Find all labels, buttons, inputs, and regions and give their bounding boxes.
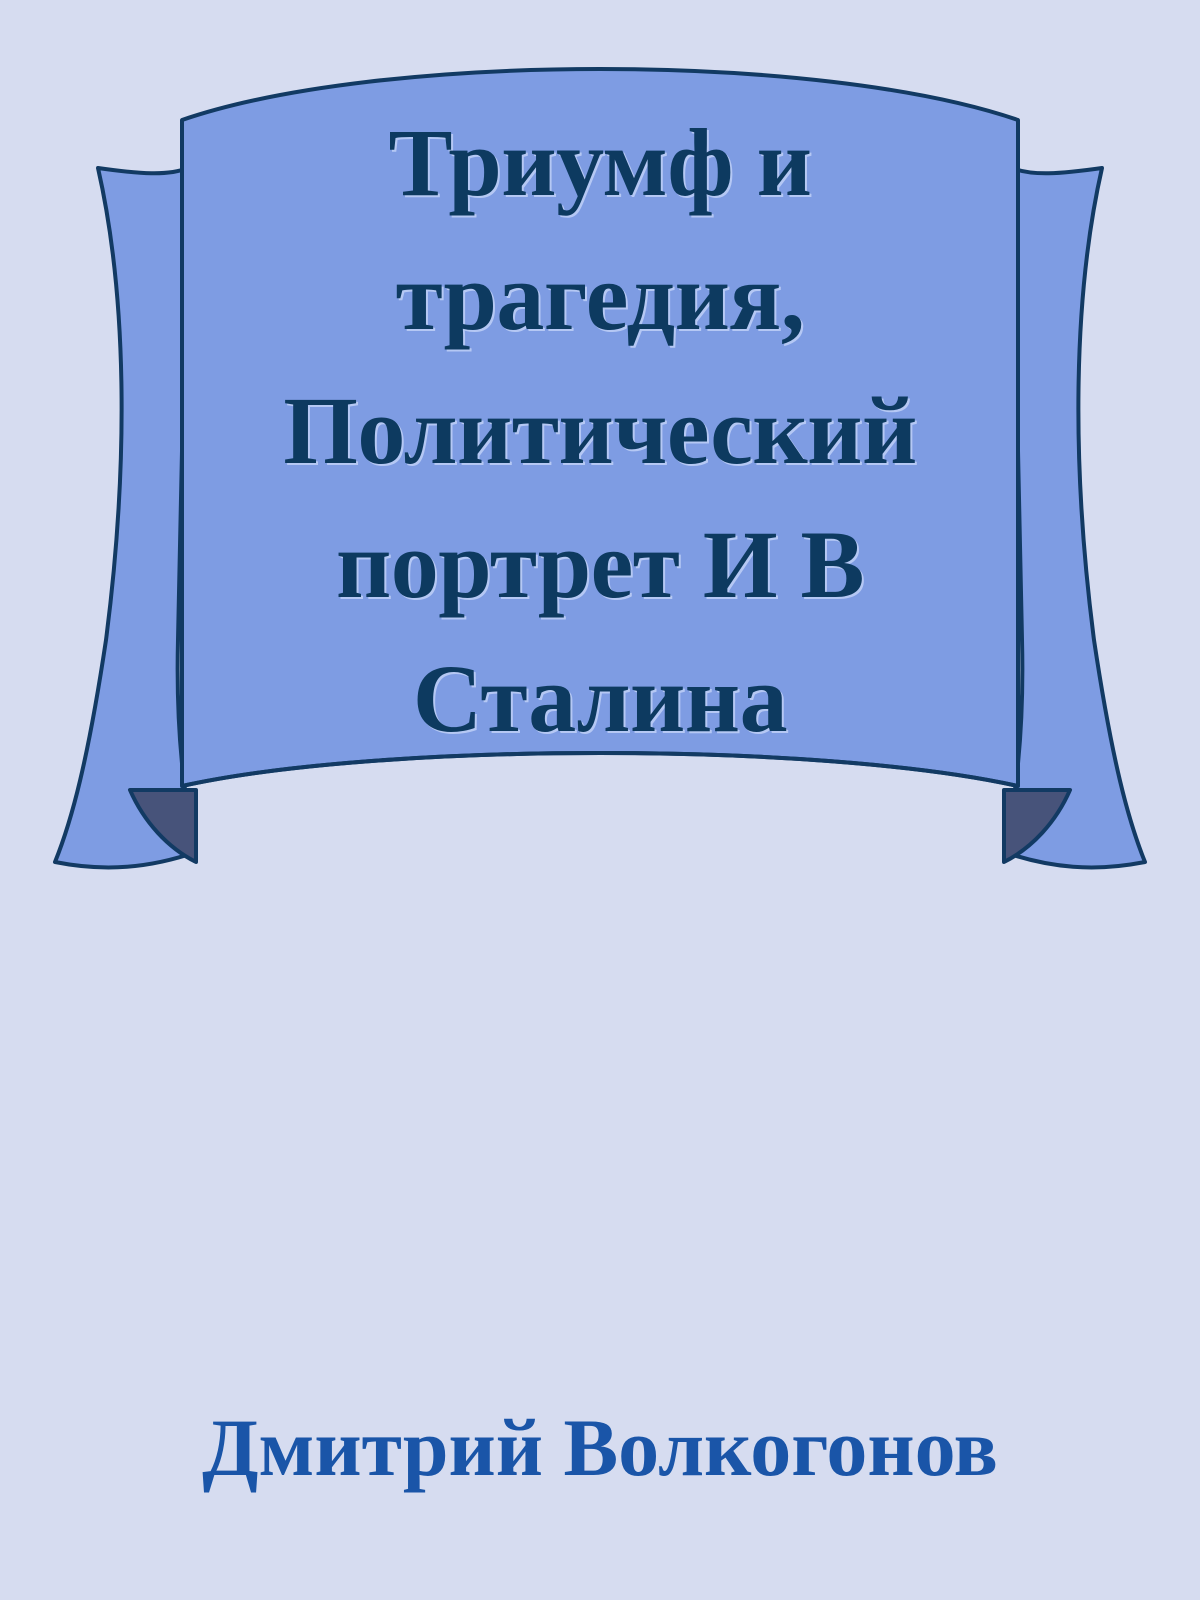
book-cover: Триумф и трагедия, Политический портрет … bbox=[0, 0, 1200, 1600]
book-author: Дмитрий Волкогонов bbox=[0, 1398, 1200, 1498]
title-line-3: Политический bbox=[283, 364, 917, 498]
book-title: Триумф и трагедия, Политический портрет … bbox=[185, 96, 1015, 756]
title-line-2: трагедия, bbox=[396, 230, 805, 364]
title-line-5: Сталина bbox=[413, 632, 787, 766]
title-line-4: портрет И В bbox=[336, 498, 864, 632]
ribbon-tail-right bbox=[1004, 168, 1145, 867]
ribbon-tail-left bbox=[55, 168, 196, 867]
title-line-1: Триумф и bbox=[389, 96, 812, 230]
